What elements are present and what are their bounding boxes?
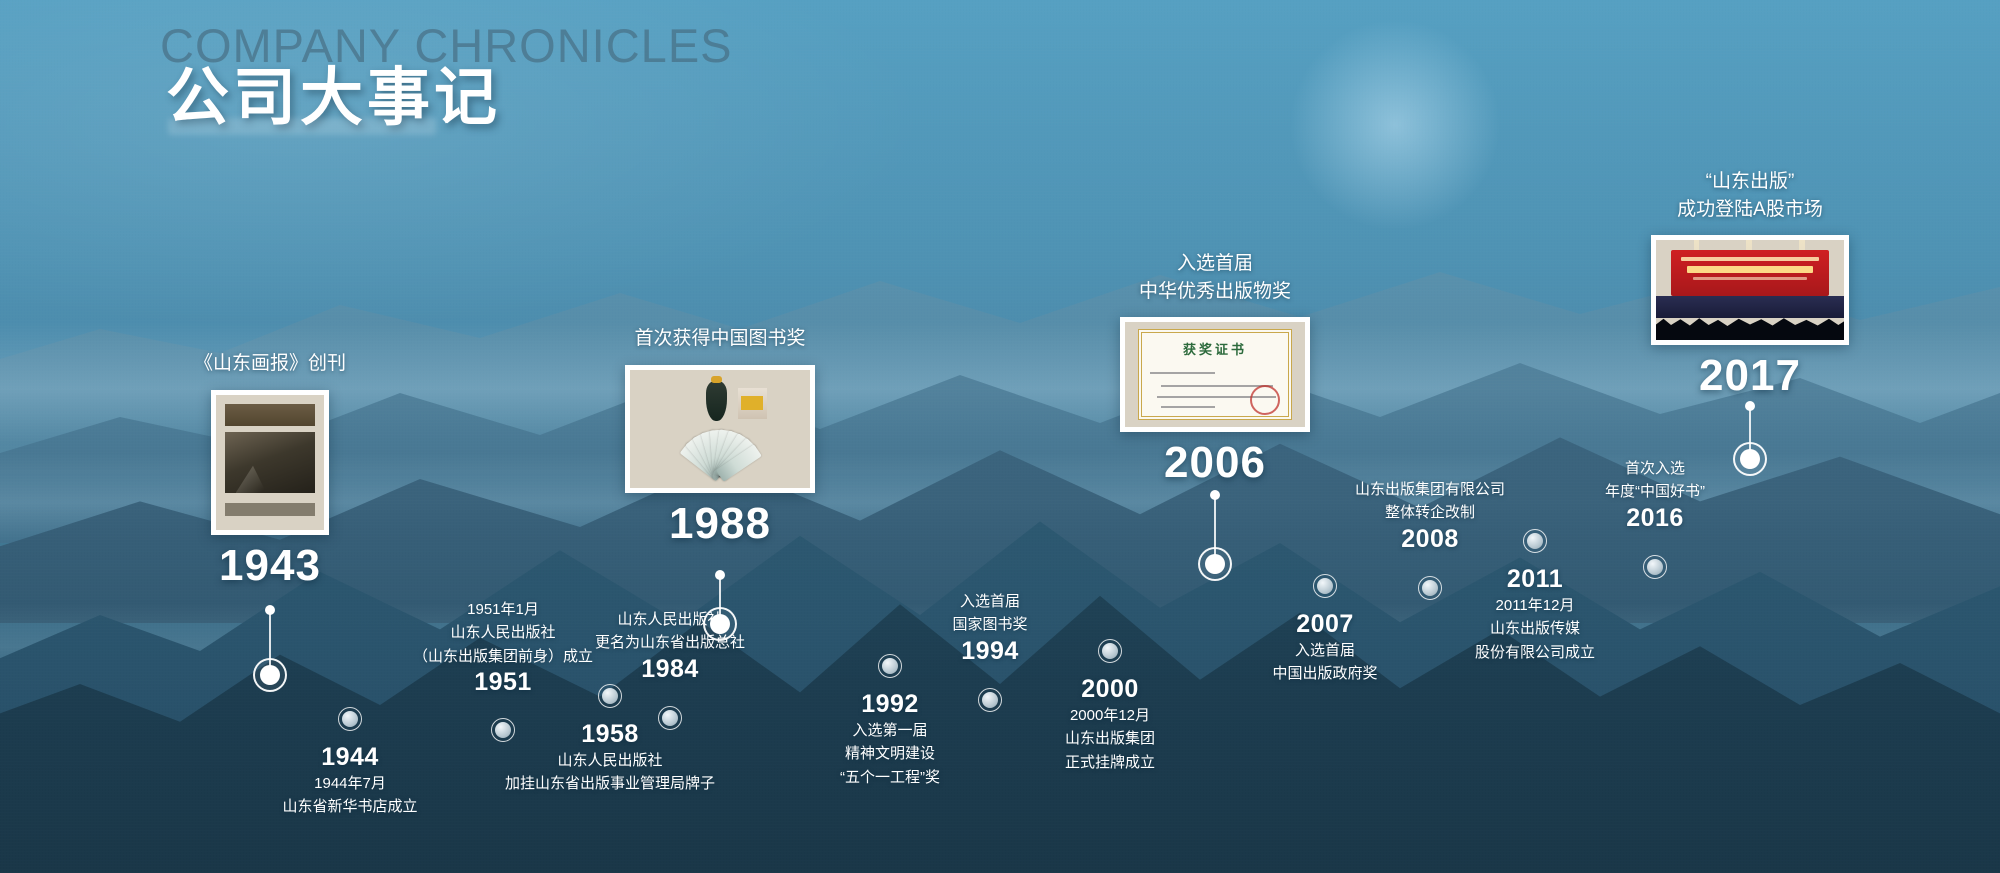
- timeline-year-1944: 1944: [255, 743, 445, 772]
- timeline-year-2007: 2007: [1230, 610, 1420, 639]
- timeline-caption-2011-line2: 山东出版传媒: [1430, 617, 1640, 640]
- timeline-marker-2017[interactable]: [1733, 442, 1767, 476]
- timeline-caption-1984-line2: 更名为山东省出版总社: [555, 631, 785, 654]
- timeline-caption-1992-line2: 精神文明建设: [790, 742, 990, 765]
- timeline-year-2011: 2011: [1430, 565, 1640, 594]
- timeline-marker-1994[interactable]: [978, 688, 1002, 712]
- timeline-caption-2007-line1: 入选首届: [1230, 639, 1420, 662]
- timeline-caption-1958-line2: 加挂山东省出版事业管理局牌子: [455, 772, 765, 795]
- timeline-caption-2007-line2: 中国出版政府奖: [1230, 662, 1420, 685]
- timeline-marker-1992[interactable]: [878, 654, 902, 678]
- timeline-item-1944[interactable]: 1944 1944年7月 山东省新华书店成立: [255, 723, 445, 819]
- timeline-caption-1944-line2: 山东省新华书店成立: [255, 795, 445, 818]
- timeline-year-1958: 1958: [455, 720, 765, 749]
- timeline-item-2008[interactable]: 山东出版集团有限公司 整体转企改制 2008: [1305, 478, 1555, 554]
- timeline-marker-1944[interactable]: [338, 707, 362, 731]
- timeline-caption-1992-line1: 入选第一届: [790, 719, 990, 742]
- timeline-caption-1992-line3: “五个一工程”奖: [790, 766, 990, 789]
- timeline-item-1988[interactable]: 首次获得中国图书奖 1988: [570, 325, 870, 549]
- timeline-year-1988: 1988: [570, 499, 870, 549]
- timeline-caption-1944-line1: 1944年7月: [255, 772, 445, 795]
- timeline-caption-2008-line1: 山东出版集团有限公司: [1305, 478, 1555, 501]
- timeline-caption-2011-line3: 股份有限公司成立: [1430, 641, 1640, 664]
- timeline-item-2017[interactable]: “山东出版” 成功登陆A股市场 2017: [1630, 168, 1870, 401]
- timeline-year-1984: 1984: [555, 655, 785, 684]
- timeline-caption-2000-line2: 山东出版集团: [1010, 727, 1210, 750]
- timeline-caption-2016-line2: 年度“中国好书”: [1555, 480, 1755, 503]
- timeline-caption-1984-line1: 山东人民出版社: [555, 608, 785, 631]
- timeline-caption-2008-line2: 整体转企改制: [1305, 501, 1555, 524]
- timeline-caption-2000-line3: 正式挂牌成立: [1010, 751, 1210, 774]
- timeline-item-2007[interactable]: 2007 入选首届 中国出版政府奖: [1230, 590, 1420, 686]
- timeline-photo-1988[interactable]: [625, 365, 815, 493]
- timeline-marker-2006[interactable]: [1198, 547, 1232, 581]
- timeline-year-2000: 2000: [1010, 675, 1210, 704]
- timeline-caption-1994-line1: 入选首届: [900, 590, 1080, 613]
- timeline-item-2006[interactable]: 入选首届 中华优秀出版物奖 获奖证书 2006: [1090, 250, 1340, 488]
- timeline-caption-1958-line1: 山东人民出版社: [455, 749, 765, 772]
- timeline-year-1992: 1992: [790, 690, 990, 719]
- timeline-marker-2007[interactable]: [1313, 574, 1337, 598]
- timeline-marker-2000[interactable]: [1098, 639, 1122, 663]
- timeline-caption-1988: 首次获得中国图书奖: [570, 325, 870, 353]
- timeline-year-2016: 2016: [1555, 504, 1755, 533]
- infographic-canvas: COMPANY CHRONICLES 公司大事记 《山东画报》创刊 1943 1…: [0, 0, 2000, 873]
- timeline-item-1943[interactable]: 《山东画报》创刊 1943: [140, 350, 400, 591]
- timeline-marker-1984[interactable]: [658, 706, 682, 730]
- timeline-year-1943: 1943: [140, 541, 400, 591]
- timeline-caption-1943: 《山东画报》创刊: [140, 350, 400, 378]
- timeline-item-1984[interactable]: 山东人民出版社 更名为山东省出版总社 1984: [555, 608, 785, 684]
- timeline-photo-1943[interactable]: [211, 390, 329, 535]
- timeline-item-2000[interactable]: 2000 2000年12月 山东出版集团 正式挂牌成立: [1010, 655, 1210, 774]
- timeline-item-2016[interactable]: 首次入选 年度“中国好书” 2016: [1555, 457, 1755, 533]
- timeline-marker-1958[interactable]: [598, 684, 622, 708]
- timeline-caption-2011-line1: 2011年12月: [1430, 594, 1640, 617]
- timeline-caption-2016-line1: 首次入选: [1555, 457, 1755, 480]
- timeline-caption-1994-line2: 国家图书奖: [900, 613, 1080, 636]
- certificate-title: 获奖证书: [1125, 339, 1305, 358]
- timeline-item-2011[interactable]: 2011 2011年12月 山东出版传媒 股份有限公司成立: [1430, 545, 1640, 664]
- timeline-caption-2006-line1: 入选首届: [1090, 250, 1340, 278]
- timeline-caption-2017-line2: 成功登陆A股市场: [1630, 196, 1870, 224]
- timeline-item-1992[interactable]: 1992 入选第一届 精神文明建设 “五个一工程”奖: [790, 670, 990, 789]
- timeline-year-2017: 2017: [1630, 351, 1870, 401]
- timeline-year-2006: 2006: [1090, 438, 1340, 488]
- timeline-item-1958[interactable]: 1958 山东人民出版社 加挂山东省出版事业管理局牌子: [455, 700, 765, 796]
- timeline-marker-2016[interactable]: [1643, 555, 1667, 579]
- timeline-caption-2017-line1: “山东出版”: [1630, 168, 1870, 196]
- timeline-marker-1943[interactable]: [253, 658, 287, 692]
- timeline-photo-2017[interactable]: [1651, 235, 1849, 345]
- timeline-marker-2011[interactable]: [1523, 529, 1547, 553]
- timeline-caption-2006-line2: 中华优秀出版物奖: [1090, 278, 1340, 306]
- timeline-marker-1988[interactable]: [703, 607, 737, 641]
- timeline-caption-2000-line1: 2000年12月: [1010, 704, 1210, 727]
- title-underline-shadow: [168, 118, 436, 135]
- timeline-photo-2006[interactable]: 获奖证书: [1120, 317, 1310, 432]
